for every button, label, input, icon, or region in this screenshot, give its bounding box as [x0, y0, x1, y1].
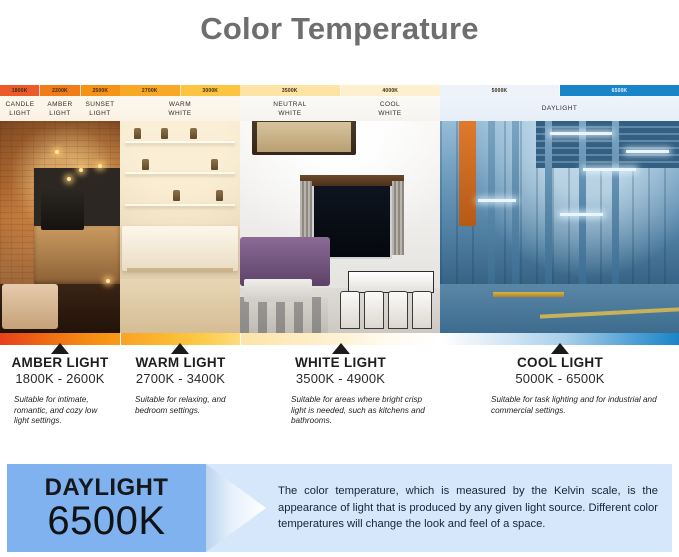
kelvin-chip: 2500K [81, 85, 120, 96]
pendant-bulb-icon [98, 164, 102, 168]
kelvin-chip: 4000K [341, 85, 441, 96]
footer-callout: DAYLIGHT 6500K The color temperature, wh… [7, 464, 672, 552]
kelvin-chip: 3500K [240, 85, 341, 96]
pendant-bulb-icon [55, 150, 59, 154]
kelvin-chip-row: 3500K 4000K [240, 85, 440, 96]
kelvin-chip-row: 1800K 2200K 2500K [0, 85, 120, 96]
chevron-right-icon [206, 464, 266, 552]
photo-modern-living-dining [240, 110, 440, 333]
caption-row: WARM WHITE [120, 96, 240, 121]
category-kelvin-range: 5000K - 6500K [441, 371, 679, 386]
category-kelvin-range: 3500K - 4900K [241, 371, 440, 386]
category-kelvin-range: 2700K - 3400K [121, 371, 240, 386]
kelvin-gradient-scale [0, 333, 679, 345]
category-description: Suitable for intimate, romantic, and coz… [14, 395, 112, 427]
category-description: Suitable for task lighting and for indus… [491, 395, 671, 416]
category-name: WARM LIGHT [121, 355, 240, 370]
caption-row: CANDLE LIGHT AMBER LIGHT SUNSET LIGHT [0, 96, 120, 121]
category-description: Suitable for areas where bright crisp li… [291, 395, 432, 427]
daylight-label: DAYLIGHT [45, 475, 169, 501]
caption-neutral-white: NEUTRAL WHITE [240, 96, 340, 121]
caption-daylight: DAYLIGHT [440, 96, 679, 121]
daylight-kelvin-value: 6500K [47, 501, 165, 541]
scale-marker-amber [51, 343, 69, 354]
category-description: Suitable for relaxing, and bedroom setti… [135, 395, 232, 416]
scale-marker-white [332, 343, 350, 354]
kelvin-chip: 5000K [440, 85, 560, 96]
caption-row: DAYLIGHT [440, 96, 679, 121]
color-temperature-board: 1800K 2200K 2500K CANDLE LIGHT AMBER LIG… [0, 85, 679, 333]
panel-candle-sunset: 1800K 2200K 2500K CANDLE LIGHT AMBER LIG… [0, 85, 120, 333]
panel-daylight: 5000K 6500K DAYLIGHT [440, 85, 679, 333]
daylight-highlight: DAYLIGHT 6500K [7, 464, 206, 552]
caption-amber-light: AMBER LIGHT [40, 96, 80, 121]
category-label-row: AMBER LIGHT 1800K - 2600K Suitable for i… [0, 345, 679, 445]
panel-neutral-cool-white: 3500K 4000K NEUTRAL WHITE COOL WHITE [240, 85, 440, 333]
photo-warm-living-room [120, 110, 240, 333]
category-name: WHITE LIGHT [241, 355, 440, 370]
kelvin-chip: 1800K [0, 85, 40, 96]
caption-warm-white: WARM WHITE [120, 96, 240, 121]
category-name: COOL LIGHT [441, 355, 679, 370]
kelvin-chip-row: 5000K 6500K [440, 85, 679, 96]
category-cool-light: COOL LIGHT 5000K - 6500K Suitable for ta… [441, 355, 679, 416]
caption-row: NEUTRAL WHITE COOL WHITE [240, 96, 440, 121]
scale-marker-cool [551, 343, 569, 354]
photo-industrial-warehouse [440, 110, 679, 333]
footer-description: The color temperature, which is measured… [206, 464, 672, 552]
kelvin-chip: 3000K [181, 85, 241, 96]
category-amber-light: AMBER LIGHT 1800K - 2600K Suitable for i… [0, 355, 120, 427]
category-name: AMBER LIGHT [0, 355, 120, 370]
panel-warm-white: 2700K 3000K WARM WHITE [120, 85, 240, 333]
kelvin-chip-row: 2700K 3000K [120, 85, 240, 96]
photo-brick-cafe [0, 110, 120, 333]
category-white-light: WHITE LIGHT 3500K - 4900K Suitable for a… [241, 355, 440, 427]
caption-sunset-light: SUNSET LIGHT [80, 96, 120, 121]
page-title: Color Temperature [200, 11, 478, 75]
kelvin-chip: 6500K [560, 85, 679, 96]
category-warm-light: WARM LIGHT 2700K - 3400K Suitable for re… [121, 355, 240, 416]
footer-paragraph: The color temperature, which is measured… [278, 483, 658, 533]
caption-candle-light: CANDLE LIGHT [0, 96, 40, 121]
scale-marker-warm [171, 343, 189, 354]
caption-cool-white: COOL WHITE [340, 96, 440, 121]
category-kelvin-range: 1800K - 2600K [0, 371, 120, 386]
page-header: Color Temperature [0, 0, 679, 85]
kelvin-chip: 2200K [40, 85, 80, 96]
kelvin-chip: 2700K [120, 85, 181, 96]
